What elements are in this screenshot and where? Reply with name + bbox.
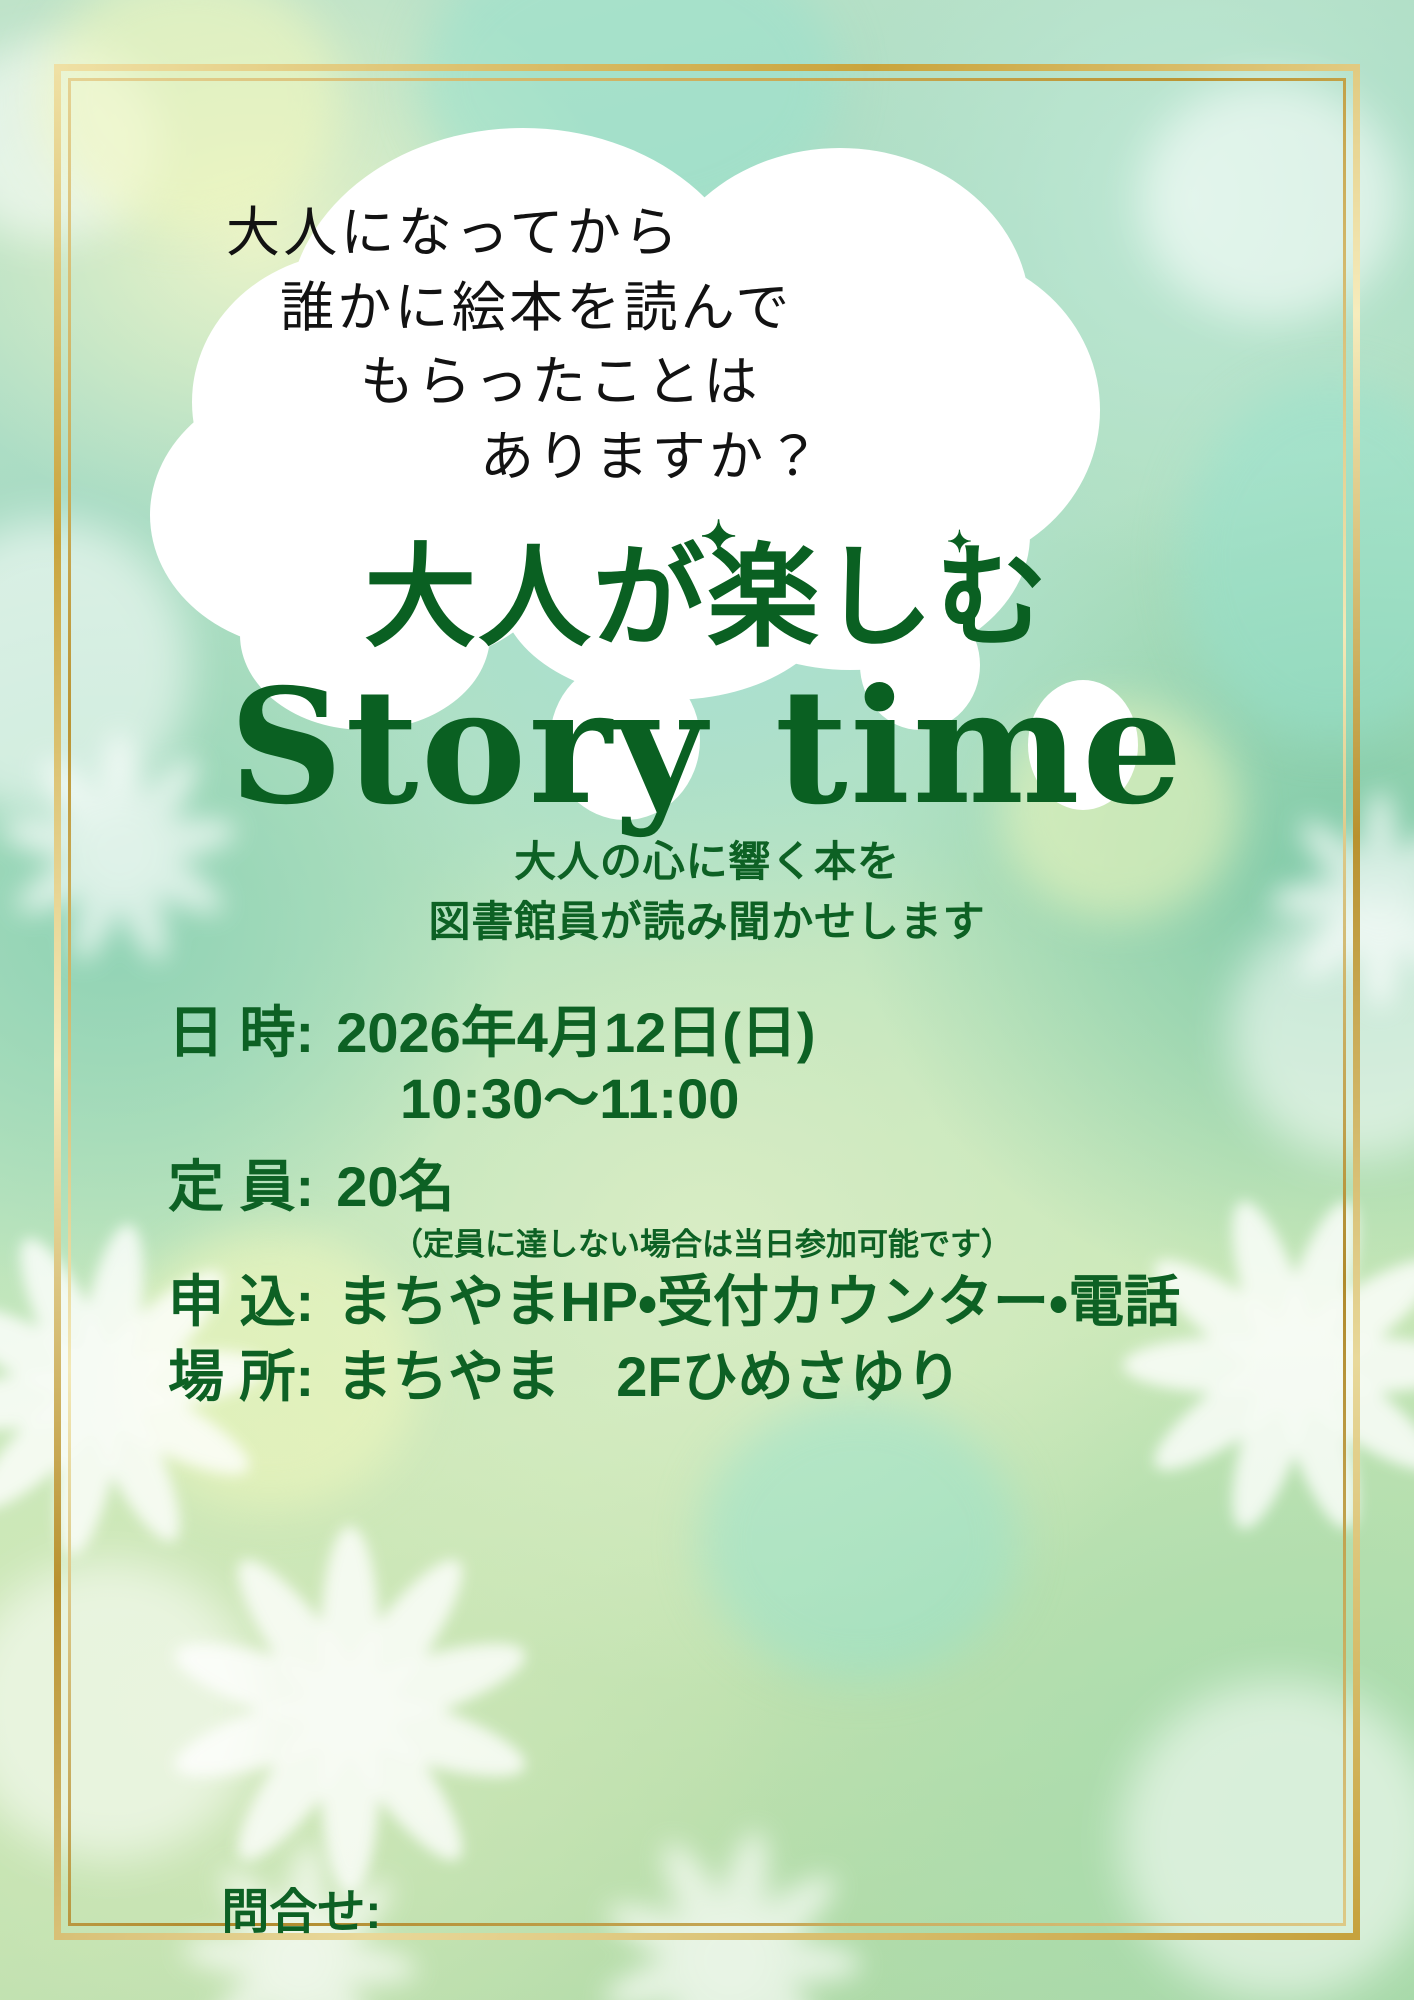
page-title-text: 大人が楽しむ [364, 532, 1049, 663]
detail-label: 日 時: [168, 1000, 314, 1066]
time-word: time [775, 655, 1185, 840]
subtitle-block: 大人の心に響く本を 図書館員が読み聞かせします [0, 832, 1414, 951]
detail-row-time: 10:30～11:00 [0, 1066, 1414, 1132]
detail-label: 場 所: [168, 1344, 314, 1410]
story-word: Story [229, 655, 708, 840]
story-time-title: Storytime [0, 665, 1414, 831]
poster-canvas: 大人になってから 誰かに絵本を読んで もらったことは ありますか？ 大人が楽しむ… [0, 0, 1414, 2000]
bubble-text-block: 大人になってから 誰かに絵本を読んで もらったことは ありますか？ [200, 196, 1030, 494]
contact-label: 問合せ: [221, 1886, 381, 1939]
detail-row-location: 場 所: まちやま 2Fひめさゆり [0, 1344, 1414, 1410]
capacity-note: （定員に達しない場合は当日参加可能です） [0, 1220, 1414, 1263]
bubble-line-3: もらったことは [200, 345, 1030, 420]
detail-value: まちやまHP・受付カウンター・電話 [336, 1269, 1180, 1335]
detail-value: 20名 [336, 1154, 454, 1220]
detail-row-capacity: 定 員: 20名 [0, 1154, 1414, 1220]
detail-value: まちやま 2Fひめさゆり [336, 1344, 961, 1410]
detail-row-datetime: 日 時: 2026年4月12日(日) [0, 1000, 1414, 1066]
subtitle-line-1: 大人の心に響く本を [0, 832, 1414, 892]
detail-label: 定 員: [168, 1154, 314, 1220]
subtitle-line-2: 図書館員が読み聞かせします [0, 892, 1414, 952]
event-details: 日 時: 2026年4月12日(日) 10:30～11:00 定 員: 20名 … [0, 1000, 1414, 1410]
detail-label: 申 込: [168, 1269, 314, 1335]
bubble-line-1: 大人になってから [200, 196, 1030, 271]
bubble-line-2: 誰かに絵本を読んで [200, 271, 1030, 346]
detail-value: 2026年4月12日(日) [336, 1000, 815, 1066]
bubble-line-4: ありますか？ [200, 420, 1030, 495]
detail-row-application: 申 込: まちやまHP・受付カウンター・電話 [0, 1269, 1414, 1335]
contact-line: 問合せ: 三条市立図書館（0256-32-0657） [0, 1826, 1414, 2000]
page-title: 大人が楽しむ ✦ ✦ [0, 542, 1414, 654]
